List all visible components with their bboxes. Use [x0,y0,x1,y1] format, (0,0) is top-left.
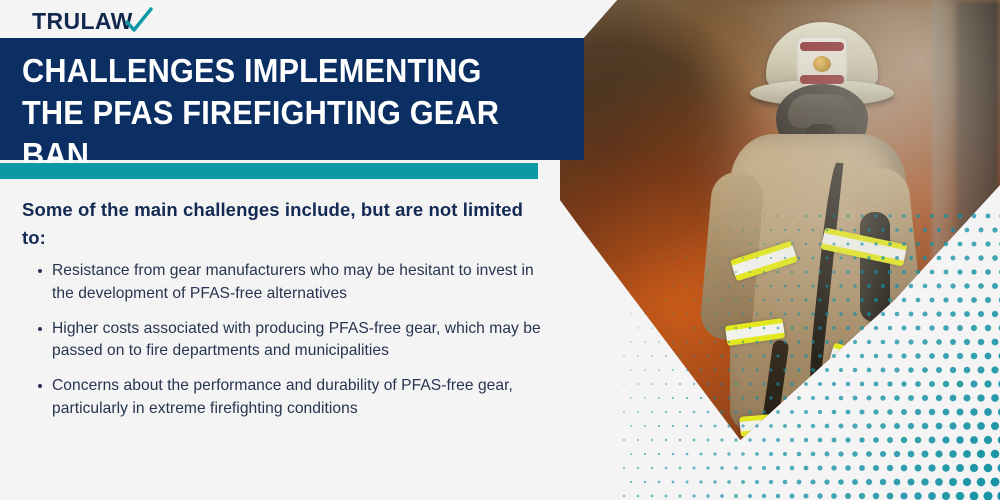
brand-logo[interactable]: TRULAW [32,7,154,35]
firefighter-photo-panel [560,0,1000,500]
check-icon [124,7,154,35]
challenges-list: Resistance from gear manufacturers who m… [34,260,554,433]
logo-wordmark: TRULAW [32,10,133,33]
subheading: Some of the main challenges include, but… [22,196,542,252]
firefighter-photo [560,0,1000,500]
list-item: Higher costs associated with producing P… [34,318,554,364]
page-title: CHALLENGES IMPLEMENTING THE PFAS FIREFIG… [22,50,524,177]
teal-accent-bar [0,163,538,179]
smoke-overlay [560,0,1000,500]
list-item: Concerns about the performance and durab… [34,375,554,421]
infographic-banner: TRULAW CHALLENGES IMPLEMENTING THE PFAS … [0,0,1000,500]
flame [830,408,852,500]
list-item: Resistance from gear manufacturers who m… [34,260,554,306]
title-bar: CHALLENGES IMPLEMENTING THE PFAS FIREFIG… [0,38,584,160]
reflective-stripe [837,425,896,454]
